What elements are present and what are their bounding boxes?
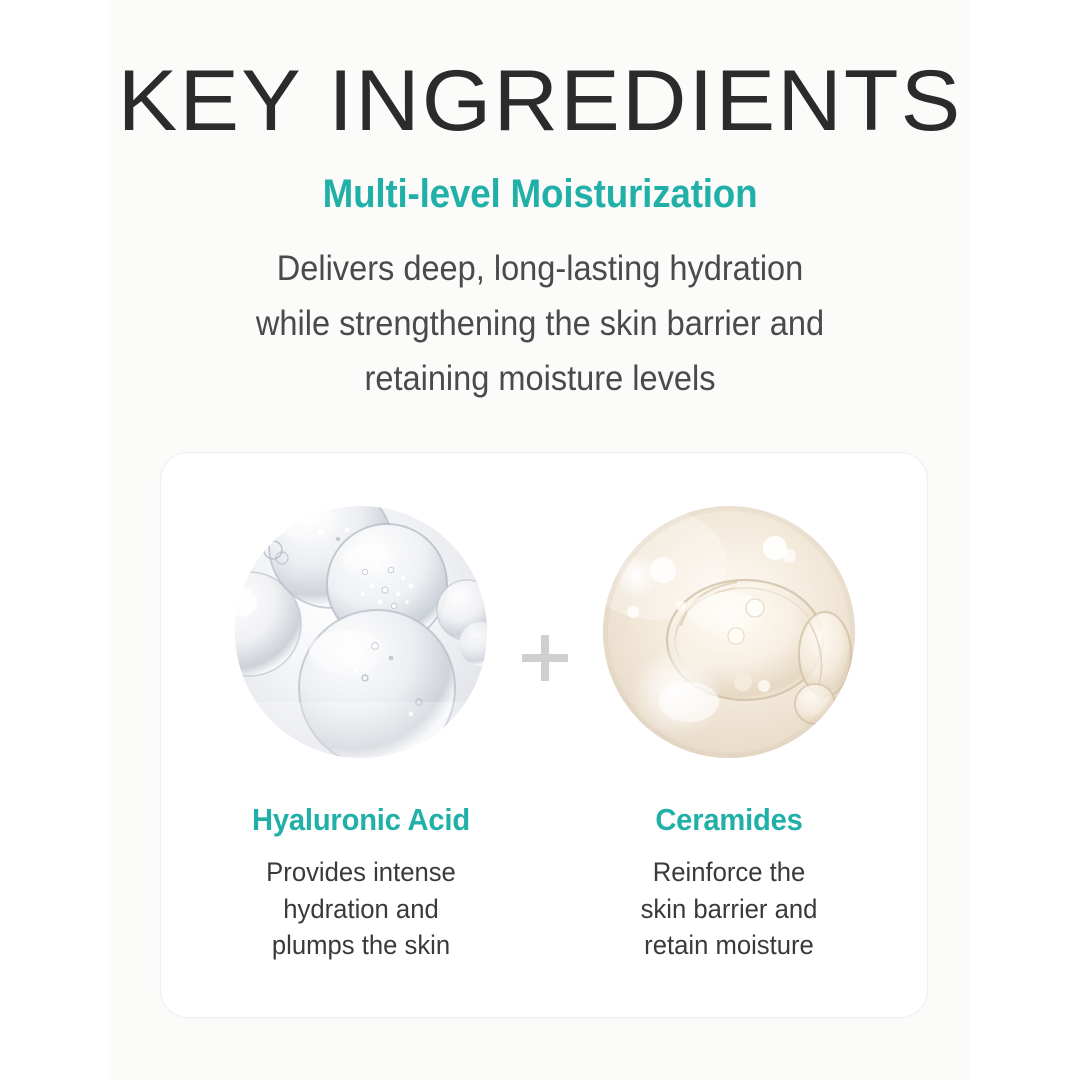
ingredient-name: Hyaluronic Acid [220, 758, 502, 838]
ingredient-name: Ceramides [588, 758, 870, 838]
cream-droplet-photo [603, 506, 855, 758]
ingredient-description-line-2: skin barrier and [587, 891, 872, 928]
ingredient-description-line-3: plumps the skin [219, 927, 504, 964]
subtitle: Multi-level Moisturization [43, 146, 1037, 217]
lede-paragraph: Delivers deep, long-lasting hydration wh… [38, 217, 1042, 407]
ingredient-item-ceramides[interactable]: Ceramides Reinforce the skin barrier and… [579, 453, 879, 964]
ingredient-description-line-1: Provides intense [219, 854, 504, 891]
separator [511, 453, 579, 1019]
ingredient-description: Provides intense hydration and plumps th… [219, 838, 504, 964]
ingredients-card: Hyaluronic Acid Provides intense hydrati… [160, 452, 928, 1018]
clear-gel-bubbles-photo [235, 506, 487, 758]
header-block: KEY INGREDIENTS Multi-level Moisturizati… [0, 0, 1080, 407]
ingredient-description-line-2: hydration and [219, 891, 504, 928]
page-title: KEY INGREDIENTS [0, 0, 1080, 146]
ingredients-columns: Hyaluronic Acid Provides intense hydrati… [161, 453, 929, 1019]
lede-line-3: retaining moisture levels [38, 351, 1042, 406]
lede-line-2: while strengthening the skin barrier and [38, 296, 1042, 351]
lede-line-1: Delivers deep, long-lasting hydration [38, 241, 1042, 296]
plus-icon [522, 635, 568, 681]
ingredient-description: Reinforce the skin barrier and retain mo… [587, 838, 872, 964]
infographic-page: KEY INGREDIENTS Multi-level Moisturizati… [0, 0, 1080, 1080]
ingredient-description-line-1: Reinforce the [587, 854, 872, 891]
ingredient-description-line-3: retain moisture [587, 927, 872, 964]
ingredient-item-hyaluronic-acid[interactable]: Hyaluronic Acid Provides intense hydrati… [211, 453, 511, 964]
